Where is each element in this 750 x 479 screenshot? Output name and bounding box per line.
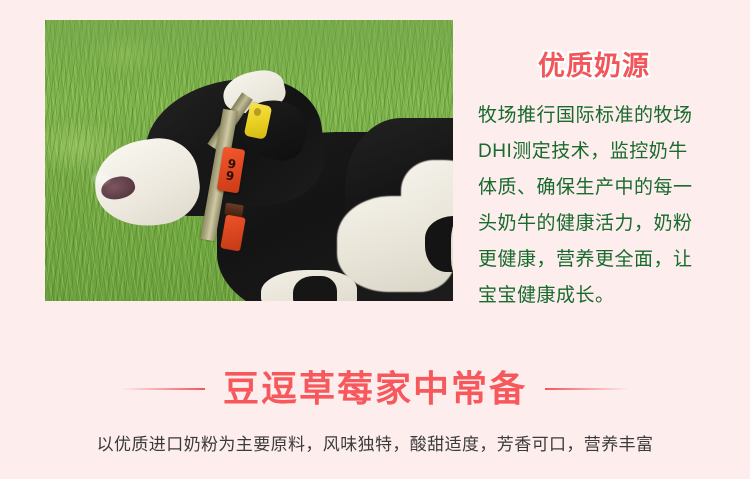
tagline-headline: 豆逗草莓家中常备 (223, 371, 527, 407)
divider-rule-right (545, 388, 629, 390)
milk-source-text-column: 优质奶源 牧场推行国际标准的牧场 DHI测定技术，监控奶牛 体质、确保生产中的每… (478, 52, 740, 314)
tagline-subheadline: 以优质进口奶粉为主要原料，风味独特，酸甜适度，芳香可口，营养丰富 (0, 430, 750, 455)
section-body-text: 牧场推行国际标准的牧场 DHI测定技术，监控奶牛 体质、确保生产中的每一 头奶牛… (478, 98, 740, 314)
photo-vignette (45, 20, 453, 301)
divider-rule-left (121, 388, 205, 390)
product-detail-page: 9 9 优质奶源 牧场推行国际标准的牧场 DHI测定技术，监控奶牛 体质、确保生… (0, 0, 750, 479)
tagline-section: 豆逗草莓家中常备 以优质进口奶粉为主要原料，风味独特，酸甜适度，芳香可口，营养丰… (0, 330, 750, 479)
holstein-cow-in-pasture-photo: 9 9 (45, 20, 453, 301)
section-title: 优质奶源 (538, 52, 740, 82)
headline-row: 豆逗草莓家中常备 (0, 366, 750, 412)
milk-source-section: 9 9 优质奶源 牧场推行国际标准的牧场 DHI测定技术，监控奶牛 体质、确保生… (0, 0, 750, 330)
